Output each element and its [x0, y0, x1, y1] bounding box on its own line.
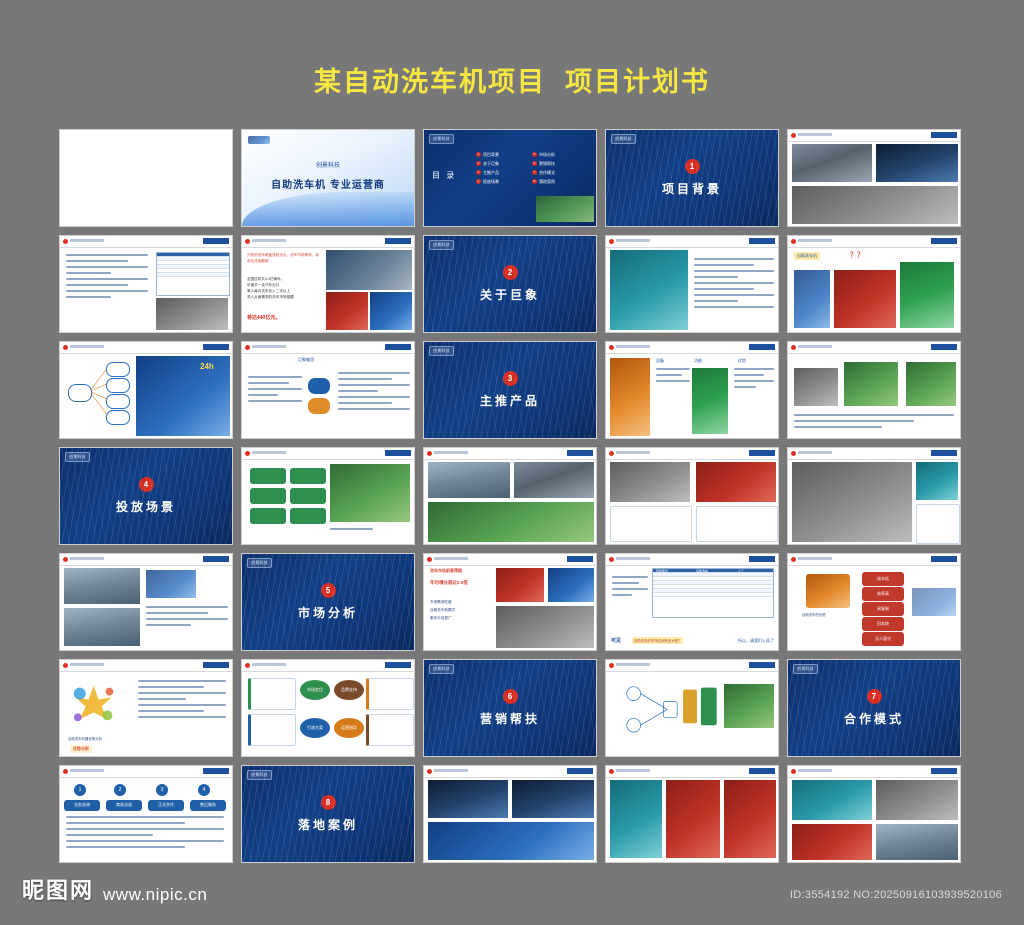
slide-thumb-17[interactable] — [241, 447, 415, 545]
slide-thumb-3[interactable]: 创景科技 目 录 1项目背景 2关于巨象 3主推产品 4投放场景 5市场分析 6… — [423, 129, 597, 227]
step-label: 商务洽谈 — [106, 800, 142, 811]
bullet-item: 市场需求旺盛 — [430, 598, 455, 606]
toc-number: 2 — [476, 161, 481, 166]
header-bar — [70, 239, 104, 242]
col-head-0: 传统服务 — [656, 569, 668, 573]
header-dot-icon — [245, 663, 250, 668]
toc-item-label: 投放场景 — [483, 177, 499, 186]
header-brand-bar — [567, 450, 593, 456]
text-line — [138, 704, 226, 706]
text-block — [66, 254, 148, 302]
step-number: 3 — [156, 784, 168, 796]
slide-thumb-24[interactable]: 传统服务 自助洗车 人工 可见 自助洗车的市场空间有多大呢？ 所以，请我们入局了 — [605, 553, 779, 651]
slide-header — [242, 342, 414, 354]
header-brand-bar — [931, 238, 957, 244]
text-line — [66, 260, 128, 262]
photo-case-red — [666, 780, 720, 858]
photo-machine-orange — [610, 358, 650, 436]
photo-kiosk-green — [692, 368, 728, 434]
section-divider: 2 关于巨象 — [424, 236, 596, 332]
cover-wave — [242, 192, 414, 226]
step-number: 4 — [198, 784, 210, 796]
matrix-card — [248, 678, 296, 710]
advantage-chip: 无人值守 — [862, 632, 904, 646]
cover-logo-mark — [248, 136, 270, 144]
step-label: 正式合作 — [148, 800, 184, 811]
slide-header — [788, 448, 960, 460]
header-dot-icon — [427, 769, 432, 774]
scene-chip — [250, 488, 286, 504]
header-brand-bar — [203, 556, 229, 562]
slide-thumb-33[interactable] — [423, 765, 597, 863]
slide-thumb-4[interactable]: 创景科技 1 项目背景 — [605, 129, 779, 227]
text-line — [338, 390, 378, 392]
text-line — [66, 254, 148, 256]
analysis-title: 自助洗车机器优势分析 — [68, 736, 102, 741]
photo-person — [794, 270, 830, 328]
header-dot-icon — [63, 769, 68, 774]
slide-thumb-31[interactable]: 1 2 3 4 业务咨询 商务洽谈 正式合作 售后服务 — [59, 765, 233, 863]
slide-header — [606, 236, 778, 248]
slide-header — [242, 448, 414, 460]
photo-case-street — [876, 780, 958, 820]
analysis-sub: 优势分析 — [70, 745, 92, 753]
data-table — [156, 252, 230, 296]
text-line — [734, 380, 774, 382]
header-dot-icon — [427, 557, 432, 562]
table-row — [653, 593, 773, 597]
slide-header — [606, 766, 778, 778]
toc-column-left: 1项目背景 2关于巨象 3主推产品 4投放场景 — [476, 150, 499, 186]
header-brand-bar — [385, 238, 411, 244]
header-bar — [798, 769, 832, 772]
advantage-chip: 效率高 — [862, 587, 904, 601]
photo-wash-bay — [136, 356, 230, 436]
text-line — [66, 290, 148, 292]
text-card — [610, 506, 692, 542]
photo-intersection — [64, 608, 140, 646]
slide-header — [242, 660, 414, 672]
slide-thumb-29[interactable] — [605, 659, 779, 757]
photo-station — [610, 250, 688, 330]
text-line — [66, 816, 224, 818]
slide-thumb-8[interactable]: 创景科技 2 关于巨象 — [423, 235, 597, 333]
text-line — [694, 264, 754, 266]
step-number: 2 — [114, 784, 126, 796]
slide-thumb-15[interactable] — [787, 341, 961, 439]
section-title: 落地案例 — [298, 816, 358, 833]
slide-grid: 创景科技 自助洗车机 专业运营商 创景科技 目 录 1项目背景 2关于巨象 3主… — [59, 129, 969, 863]
matrix-chip: 品牌支持 — [334, 680, 364, 700]
text-line — [248, 388, 302, 390]
column-header-0: 设备 — [656, 358, 664, 364]
market-title: 洗车市场前景预期 — [430, 568, 462, 574]
toc-number: 7 — [532, 170, 537, 175]
header-bar — [798, 345, 832, 348]
header-bar — [434, 769, 468, 772]
photo-street — [428, 462, 510, 498]
section-divider: 1 项目背景 — [606, 130, 778, 226]
header-dot-icon — [609, 769, 614, 774]
text-line — [66, 828, 224, 830]
section-divider: 5 市场分析 — [242, 554, 414, 650]
header-bar — [798, 451, 832, 454]
text-block — [138, 680, 226, 722]
text-line — [138, 716, 226, 718]
slide-thumb-27[interactable]: 市场定位 品牌支持 引流方案 运营指导 — [241, 659, 415, 757]
photo-car-field — [610, 462, 690, 502]
photo-kiosk — [900, 262, 954, 328]
slide-thumb-14[interactable]: 设备 功能 优势 — [605, 341, 779, 439]
header-brand-bar — [567, 768, 593, 774]
toc-photo — [536, 196, 594, 222]
toc-item-label: 落地案例 — [539, 177, 555, 186]
scene-chip — [290, 508, 326, 524]
advantage-title: 自助洗车的优势 — [802, 612, 826, 617]
photo-case-facility — [876, 824, 958, 860]
toc-item-label: 主推产品 — [483, 168, 499, 177]
section-number: 1 — [685, 159, 700, 174]
matrix-card — [248, 714, 296, 746]
header-dot-icon — [609, 557, 614, 562]
slide-thumb-9[interactable] — [605, 235, 779, 333]
text-line — [612, 576, 648, 578]
section-title: 主推产品 — [480, 392, 540, 409]
photo-taxi — [696, 462, 776, 502]
step-number: 1 — [74, 784, 86, 796]
slide-thumb-25[interactable]: 自助洗车的优势 成本低 效率高 易复制 回本快 无人值守 — [787, 553, 961, 651]
text-line — [694, 300, 738, 302]
slide-header — [606, 342, 778, 354]
text-line — [656, 374, 682, 376]
header-brand-bar — [567, 556, 593, 562]
text-line — [734, 386, 756, 388]
column-header-2: 优势 — [738, 358, 746, 364]
toc-number: 4 — [476, 179, 481, 184]
text-line — [138, 710, 204, 712]
text-line — [694, 306, 774, 308]
photo-garage — [792, 462, 912, 542]
slide-thumb-5[interactable] — [787, 129, 961, 227]
photo-car-wash-red — [834, 270, 896, 328]
header-brand-bar — [749, 768, 775, 774]
slide-header — [788, 130, 960, 142]
text-block — [146, 606, 228, 630]
header-bar — [252, 345, 286, 348]
slide-thumb-30[interactable]: 创景科技 7 合作模式 — [787, 659, 961, 757]
text-line — [66, 822, 185, 824]
text-block-right — [338, 372, 410, 414]
header-brand-bar — [931, 768, 957, 774]
slide-header — [606, 448, 778, 460]
scene-chip — [250, 468, 286, 484]
advantage-chip: 易复制 — [862, 602, 904, 616]
slide-header — [60, 236, 232, 248]
slide-header — [424, 554, 596, 566]
text-line — [794, 420, 914, 422]
photo-wash-action — [496, 606, 594, 648]
section-number: 3 — [503, 371, 518, 386]
step-label: 业务咨询 — [64, 800, 100, 811]
photo-case-red-2 — [724, 780, 776, 858]
header-bar — [798, 557, 832, 560]
photo-washing — [326, 250, 412, 290]
flow-node-b — [308, 398, 330, 414]
header-brand-bar — [931, 344, 957, 350]
slide-header — [60, 766, 232, 778]
header-brand-bar — [931, 556, 957, 562]
section-number: 4 — [139, 477, 154, 492]
header-brand-bar — [385, 344, 411, 350]
bullet-item: 自助洗车新模式 — [430, 606, 455, 614]
watermark-brand: 昵图网 — [22, 873, 94, 905]
slide-thumb-20[interactable] — [787, 447, 961, 545]
text-line — [66, 840, 224, 842]
toc-number: 5 — [532, 152, 537, 157]
cover-brand: 创景科技 — [316, 160, 340, 169]
scene-chip — [290, 468, 326, 484]
slide-thumb-13[interactable]: 创景科技 3 主推产品 — [423, 341, 597, 439]
note-red: 只有的洗车覆盖找知识点，洗车市场需求，却用也洗接触服 — [247, 252, 319, 264]
text-line — [694, 288, 754, 290]
text-block-a — [656, 368, 690, 386]
photo-case-team — [792, 824, 872, 860]
text-block — [330, 528, 408, 534]
flow-node-a — [308, 378, 330, 394]
photo-washer-unit — [794, 368, 838, 406]
badge-24h: 24h — [200, 362, 214, 371]
text-line — [138, 686, 204, 688]
text-line — [146, 612, 208, 614]
toc-title: 目 录 — [432, 170, 456, 181]
text-line — [146, 606, 228, 608]
header-dot-icon — [791, 557, 796, 562]
slide-thumb-34[interactable] — [605, 765, 779, 863]
photo-car-red — [326, 292, 368, 330]
stat-lines: 全国目前共4.4亿辆车。 年增长一支汽车出行. 第人每月洗车至少二次以上 洗人从… — [247, 276, 319, 300]
mindmap-node — [106, 378, 130, 393]
text-line — [338, 402, 392, 404]
page-title: 某自动洗车机项目 项目计划书 — [0, 60, 1024, 99]
photo-red-car — [496, 568, 544, 602]
text-line — [138, 698, 186, 700]
header-dot-icon — [63, 557, 68, 562]
note-right: 所以，请我们入局了 — [738, 638, 774, 644]
section-title: 关于巨象 — [480, 286, 540, 303]
section-title: 市场分析 — [298, 604, 358, 621]
text-line — [66, 846, 185, 848]
header-bar — [434, 557, 468, 560]
text-line — [330, 528, 373, 530]
table-row — [157, 273, 229, 277]
header-brand-bar — [749, 238, 775, 244]
slide-thumb-32[interactable]: 创景科技 8 落地案例 — [241, 765, 415, 863]
text-line — [66, 272, 111, 274]
market-highlight: 年均增长超过2.5倍 — [430, 580, 468, 586]
slide-caption: 巨象集团 — [298, 357, 314, 363]
text-line — [338, 378, 392, 380]
matrix-chip: 引流方案 — [300, 718, 330, 738]
slide-thumb-28[interactable]: 创景科技 6 营销帮扶 — [423, 659, 597, 757]
section-divider: 4 投放场景 — [60, 448, 232, 544]
slide-header — [606, 554, 778, 566]
toc-item-label: 市场分析 — [539, 150, 555, 159]
slide-thumb-11[interactable]: 24h — [59, 341, 233, 439]
section-number: 7 — [867, 689, 882, 704]
header-bar — [252, 239, 286, 242]
text-line — [66, 278, 148, 280]
slide-header — [60, 554, 232, 566]
section-divider: 8 落地案例 — [242, 766, 414, 862]
advantage-chip: 成本低 — [862, 572, 904, 586]
section-number: 2 — [503, 265, 518, 280]
text-line — [248, 400, 302, 402]
header-brand-bar — [385, 450, 411, 456]
header-bar — [252, 663, 286, 666]
toc-number: 6 — [532, 161, 537, 166]
watermark: 昵图网 www.nipic.cn — [22, 873, 207, 905]
slide-header — [788, 554, 960, 566]
section-number: 5 — [321, 583, 336, 598]
text-line — [612, 582, 639, 584]
slide-thumb-22[interactable]: 创景科技 5 市场分析 — [241, 553, 415, 651]
scene-chip — [290, 488, 326, 504]
header-bar — [434, 451, 468, 454]
photo-case-night — [428, 780, 508, 818]
slide-thumb-2[interactable]: 创景科技 自助洗车机 专业运营商 — [241, 129, 415, 227]
header-bar — [616, 239, 650, 242]
highlight-amount: 将达440亿元。 — [247, 314, 280, 321]
text-line — [248, 382, 289, 384]
photo-vehicle-green — [844, 362, 898, 406]
photo-van — [514, 462, 594, 498]
text-line — [734, 368, 774, 370]
photo-blue-scene — [548, 568, 594, 602]
text-block — [612, 576, 648, 600]
slide-thumb-6[interactable] — [59, 235, 233, 333]
section-title: 投放场景 — [116, 498, 176, 515]
slide-thumb-16[interactable]: 创景科技 4 投放场景 — [59, 447, 233, 545]
photo-market — [428, 502, 594, 542]
slide-thumb-7[interactable]: 只有的洗车覆盖找知识点，洗车市场需求，却用也洗接触服 全国目前共4.4亿辆车。 … — [241, 235, 415, 333]
header-brand-bar — [749, 450, 775, 456]
toc-number: 3 — [476, 170, 481, 175]
header-bar — [798, 133, 832, 136]
text-line — [794, 414, 954, 416]
cover-title: 自助洗车机 专业运营商 — [271, 176, 385, 191]
slide-header — [424, 766, 596, 778]
section-title: 合作模式 — [844, 710, 904, 727]
photo-case-banner — [428, 822, 594, 860]
text-line — [694, 258, 774, 260]
header-brand-bar — [931, 450, 957, 456]
header-dot-icon — [245, 239, 250, 244]
section-title: 营销帮扶 — [480, 710, 540, 727]
header-dot-icon — [245, 345, 250, 350]
photo-case-blue-lot — [792, 780, 872, 820]
header-dot-icon — [609, 345, 614, 350]
header-dot-icon — [609, 451, 614, 456]
matrix-chip: 运营指导 — [334, 718, 364, 738]
header-brand-bar — [385, 662, 411, 668]
section-title: 项目背景 — [662, 180, 722, 197]
header-brand-bar — [203, 238, 229, 244]
header-dot-icon — [791, 239, 796, 244]
text-line — [338, 396, 410, 398]
photo-vehicle-green-2 — [906, 362, 956, 406]
header-dot-icon — [63, 239, 68, 244]
slide-thumb-18[interactable] — [423, 447, 597, 545]
slide-thumb-19[interactable] — [605, 447, 779, 545]
photo-car-blue — [370, 292, 412, 330]
text-line — [656, 368, 690, 370]
section-number: 6 — [503, 689, 518, 704]
photo-tires — [156, 298, 228, 330]
photo-canopy — [330, 464, 410, 522]
text-line — [694, 294, 774, 296]
note-left: 可见 — [611, 637, 621, 644]
slide-thumb-23[interactable]: 洗车市场前景预期 年均增长超过2.5倍 市场需求旺盛 自助洗车新模式 服务半径更… — [423, 553, 597, 651]
slide-header — [242, 236, 414, 248]
header-bar — [798, 239, 832, 242]
slide-thumb-10[interactable]: 自助洗车机 ？？ — [787, 235, 961, 333]
photo-case-booth — [610, 780, 662, 858]
text-block — [794, 414, 954, 432]
text-line — [694, 276, 738, 278]
toc-item-label: 关于巨象 — [483, 159, 499, 168]
slide-thumb-26[interactable]: 自助洗车机器优势分析 优势分析 — [59, 659, 233, 757]
bullet-item: 服务半径更广 — [430, 614, 455, 622]
header-dot-icon — [791, 451, 796, 456]
slide-caption: 自助洗车机 — [794, 252, 820, 260]
photo-case-store — [512, 780, 594, 818]
text-line — [612, 594, 632, 596]
photo-car-outline — [912, 588, 956, 616]
slide-thumb-21[interactable] — [59, 553, 233, 651]
brand-logo-icon: 创景科技 — [429, 134, 454, 144]
text-line — [694, 270, 774, 272]
header-dot-icon — [791, 133, 796, 138]
text-line — [146, 624, 191, 626]
matrix-card — [366, 714, 414, 746]
text-card — [696, 506, 778, 542]
header-brand-bar — [203, 768, 229, 774]
header-brand-bar — [749, 556, 775, 562]
text-line — [656, 380, 690, 382]
header-dot-icon — [609, 239, 614, 244]
slide-thumb-12[interactable]: 巨象集团 — [241, 341, 415, 439]
step-label: 售后服务 — [190, 800, 226, 811]
text-line — [248, 394, 278, 396]
text-line — [66, 266, 148, 268]
section-divider: 7 合作模式 — [788, 660, 960, 756]
col-head-1: 自助洗车 — [696, 569, 708, 573]
col-head-2: 人工 — [738, 569, 744, 573]
text-line — [66, 296, 111, 298]
slide-thumb-35[interactable] — [787, 765, 961, 863]
text-line — [794, 426, 882, 428]
photo-car-illustration — [146, 570, 196, 598]
question-marks: ？？ — [850, 250, 864, 260]
header-dot-icon — [791, 769, 796, 774]
header-bar — [70, 769, 104, 772]
text-block-b — [734, 368, 774, 392]
text-line — [146, 618, 228, 620]
photo-station-canopy — [724, 684, 774, 728]
toc-column-right: 5市场分析 6营销帮扶 7合作模式 8落地案例 — [532, 150, 555, 186]
toc-item-label: 营销帮扶 — [539, 159, 555, 168]
slide-thumb-1[interactable] — [59, 129, 233, 227]
